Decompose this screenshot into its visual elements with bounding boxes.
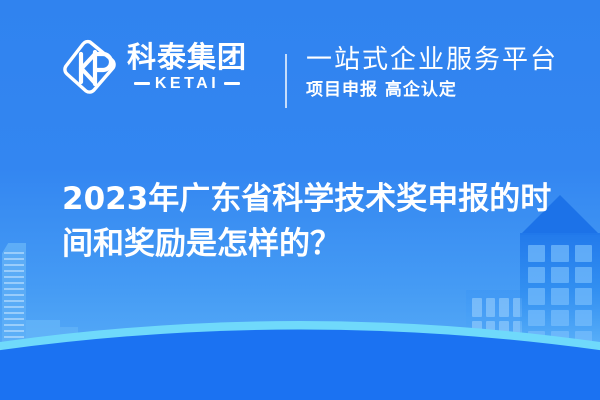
company-name-en-row: KETAI	[134, 76, 240, 92]
brand-header: 科泰集团 KETAI 一站式企业服务平台 项目申报 高企认定	[0, 36, 600, 116]
slogan-main-text: 一站式企业服务平台	[306, 46, 558, 76]
bottom-wave-decoration	[0, 290, 600, 400]
company-name-cn: 科泰集团	[127, 42, 247, 72]
brand-slogan: 一站式企业服务平台 项目申报 高企认定	[306, 46, 558, 101]
company-name-en: KETAI	[155, 76, 219, 92]
left-dash-icon	[134, 82, 150, 85]
ketai-diamond-kp-monogram-icon	[62, 38, 118, 96]
header-divider	[285, 54, 287, 108]
promo-banner: 科泰集团 KETAI 一站式企业服务平台 项目申报 高企认定 2023年广东省科…	[0, 0, 600, 400]
right-dash-icon	[224, 82, 240, 85]
brand-logo-text: 科泰集团 KETAI	[127, 42, 247, 91]
slogan-sub-text: 项目申报 高企认定	[306, 80, 558, 101]
brand-logo[interactable]: 科泰集团 KETAI	[62, 38, 247, 96]
page-title: 2023年广东省科学技术奖申报的时间和奖励是怎样的？	[62, 177, 562, 268]
